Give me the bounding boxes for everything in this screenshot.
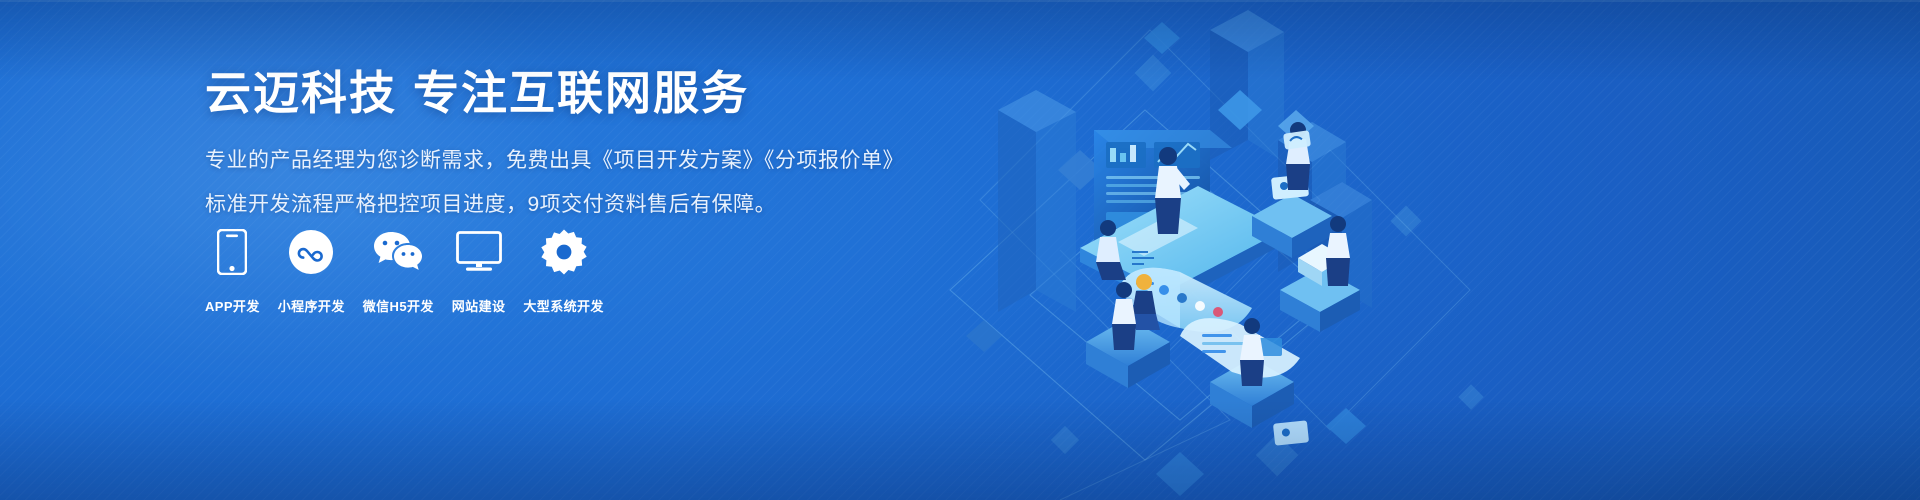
hero-banner: 云迈科技专注互联网服务 专业的产品经理为您诊断需求，免费出具《项目开发方案》《分… bbox=[0, 0, 1920, 500]
banner-subtitle: 专业的产品经理为您诊断需求，免费出具《项目开发方案》《分项报价单》 标准开发流程… bbox=[205, 120, 945, 222]
isometric-illustration bbox=[880, 0, 1440, 500]
service-item-system[interactable]: 大型系统开发 bbox=[523, 228, 603, 315]
gear-icon bbox=[541, 228, 587, 276]
subtitle-line-1: 专业的产品经理为您诊断需求，免费出具《项目开发方案》《分项报价单》 bbox=[205, 144, 945, 178]
service-item-app[interactable]: APP开发 bbox=[205, 228, 260, 315]
headline-tagline: 专注互联网服务 bbox=[413, 67, 749, 119]
smartphone-icon bbox=[217, 228, 247, 276]
service-label: 微信H5开发 bbox=[363, 296, 434, 315]
service-item-wechat-h5[interactable]: 微信H5开发 bbox=[363, 228, 434, 315]
service-label: APP开发 bbox=[205, 296, 260, 315]
service-item-miniprogram[interactable]: 小程序开发 bbox=[278, 228, 345, 315]
service-label: 大型系统开发 bbox=[523, 296, 603, 315]
mini-program-icon bbox=[288, 228, 334, 276]
service-label: 小程序开发 bbox=[278, 296, 345, 315]
page-title: 云迈科技专注互联网服务 bbox=[205, 66, 945, 120]
subtitle-line-2: 标准开发流程严格把控项目进度，9项交付资料售后有保障。 bbox=[205, 188, 945, 222]
service-label: 网站建设 bbox=[452, 296, 506, 315]
wechat-icon bbox=[372, 228, 424, 276]
monitor-icon bbox=[456, 228, 502, 276]
service-item-website[interactable]: 网站建设 bbox=[452, 228, 506, 315]
headline-brand: 云迈科技 bbox=[205, 67, 397, 119]
banner-copy: 云迈科技专注互联网服务 专业的产品经理为您诊断需求，免费出具《项目开发方案》《分… bbox=[205, 66, 945, 232]
service-list: APP开发 小程序开发 微信 bbox=[205, 228, 604, 315]
